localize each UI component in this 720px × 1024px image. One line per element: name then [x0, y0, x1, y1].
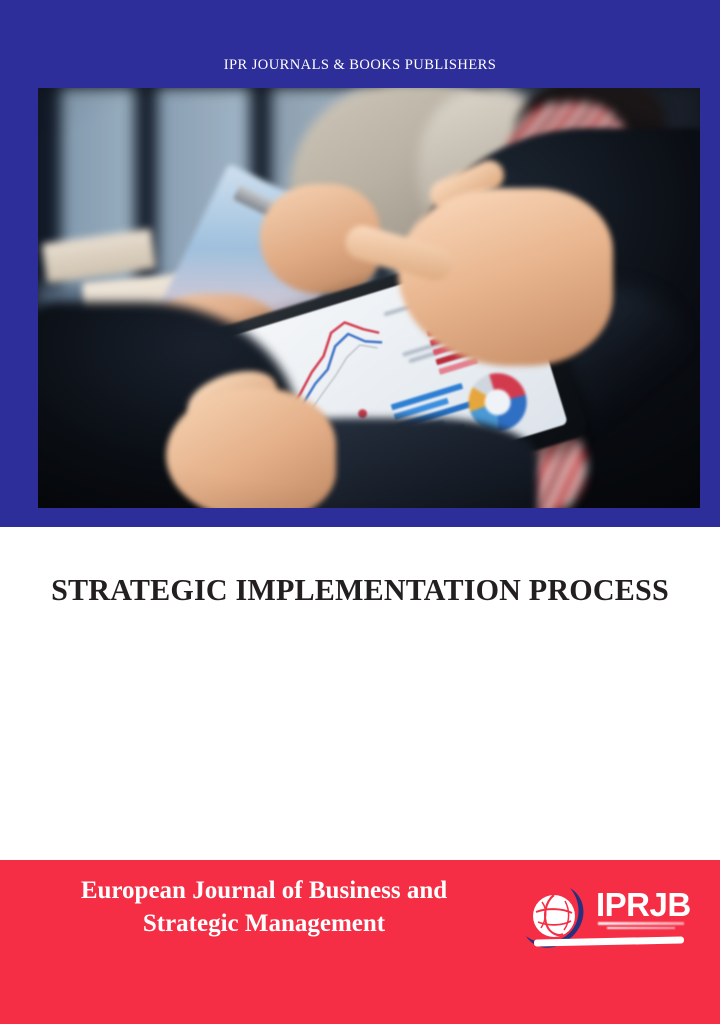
logo-wordmark: IPRJB: [596, 888, 691, 921]
logo-subtitle-line: [607, 927, 674, 930]
iprjb-logo: IPRJB: [524, 882, 692, 958]
cover-photograph: [38, 88, 700, 508]
journal-cover-page: IPR JOURNALS & BOOKS PUBLISHERS: [0, 0, 720, 1024]
publisher-name: IPR JOURNALS & BOOKS PUBLISHERS: [0, 57, 720, 74]
title-area: STRATEGIC IMPLEMENTATION PROCESS: [0, 572, 720, 608]
footer-red-band: European Journal of Business and Strateg…: [0, 860, 720, 1024]
journal-name-line-2: Strategic Management: [36, 907, 492, 940]
page-title: STRATEGIC IMPLEMENTATION PROCESS: [11, 572, 709, 608]
logo-subtitle-microtext: [598, 922, 684, 931]
journal-name-line-1: European Journal of Business and: [36, 874, 492, 907]
journal-name: European Journal of Business and Strateg…: [36, 874, 492, 940]
logo-subtitle-line: [598, 922, 684, 925]
photo-vignette: [38, 88, 700, 508]
